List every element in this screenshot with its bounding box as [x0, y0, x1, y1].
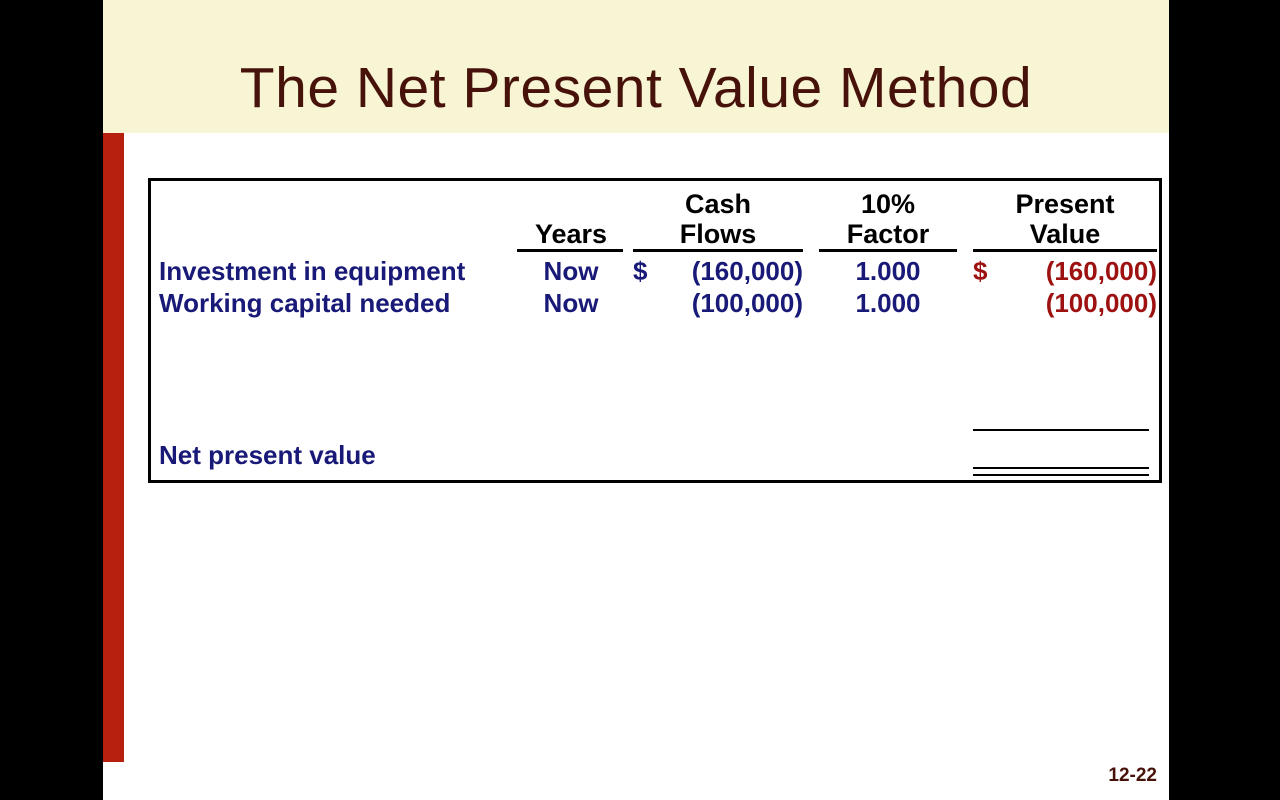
table-row-label: Working capital needed	[159, 287, 519, 320]
net-present-value-label: Net present value	[159, 439, 519, 472]
header-factor-line1: 10%	[819, 189, 957, 219]
table-row-cash-flows: $ (160,000)	[633, 255, 803, 288]
currency-symbol: $	[633, 255, 647, 288]
table-row-present-value: (100,000)	[973, 287, 1157, 320]
header-rule-present-value	[973, 249, 1157, 252]
table-row-cash-flows: (100,000)	[633, 287, 803, 320]
npv-table: Cash 10% Present Years Flows Factor Valu…	[148, 178, 1162, 483]
page-title: The Net Present Value Method	[103, 55, 1169, 121]
table-row-label: Investment in equipment	[159, 255, 519, 288]
header-rule-years	[517, 249, 623, 252]
cash-flow-value: (100,000)	[692, 288, 803, 318]
header-rule-flows	[633, 249, 803, 252]
header-factor-line2: Factor	[819, 219, 957, 249]
table-row-years: Now	[517, 255, 625, 288]
header-rule-factor	[819, 249, 957, 252]
header-present-value-line1: Present	[973, 189, 1157, 219]
header-cash-flows-line1: Cash	[633, 189, 803, 219]
cash-flow-value: (160,000)	[692, 256, 803, 286]
slide-canvas: The Net Present Value Method Cash 10% Pr…	[0, 0, 1280, 800]
page-number: 12-22	[1108, 765, 1157, 787]
title-band: The Net Present Value Method	[103, 0, 1169, 133]
table-row-factor: 1.000	[819, 287, 957, 320]
red-accent-bar	[103, 133, 124, 762]
present-value-value: (100,000)	[1046, 288, 1157, 318]
slide-page: The Net Present Value Method Cash 10% Pr…	[103, 0, 1169, 800]
total-rule-double	[973, 467, 1149, 476]
header-cash-flows-line2: Flows	[633, 219, 803, 249]
currency-symbol: $	[973, 255, 987, 288]
total-rule-single	[973, 429, 1149, 431]
present-value-value: (160,000)	[1046, 256, 1157, 286]
header-present-value-line2: Value	[973, 219, 1157, 249]
header-years-line2: Years	[517, 219, 625, 249]
table-row-present-value: $ (160,000)	[973, 255, 1157, 288]
table-row-factor: 1.000	[819, 255, 957, 288]
table-row-years: Now	[517, 287, 625, 320]
